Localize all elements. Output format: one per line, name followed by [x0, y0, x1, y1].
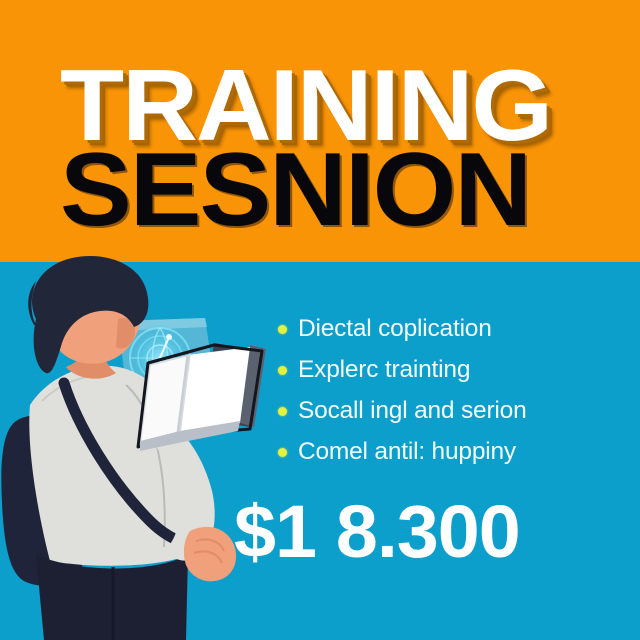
bullet-label: Comel antil: huppiny: [298, 438, 516, 466]
price-text: $1 8.300: [234, 495, 520, 569]
headline-line-sesnion: SESNION: [60, 138, 530, 242]
bullet-dot-icon: [278, 366, 287, 375]
hand-shape: [184, 527, 236, 581]
list-item: Diectal coplication: [278, 310, 608, 348]
bullet-label: Diectal coplication: [298, 315, 492, 343]
bullet-dot-icon: [278, 325, 287, 334]
man-reading-book-illustration: [0, 255, 280, 640]
feature-bullet-list: Diectal coplication Explerc trainting So…: [278, 310, 608, 474]
bullet-label: Explerc trainting: [298, 356, 470, 384]
list-item: Explerc trainting: [278, 351, 608, 389]
headline-block: TRAINING SESNION: [0, 0, 640, 262]
open-book-shape: [138, 343, 266, 451]
promo-poster: TRAINING SESNION: [0, 0, 640, 640]
bullet-dot-icon: [278, 407, 287, 416]
list-item: Socall ingl and serion: [278, 392, 608, 430]
bullet-label: Socall ingl and serion: [298, 397, 527, 425]
bullet-dot-icon: [278, 448, 287, 457]
list-item: Comel antil: huppiny: [278, 433, 608, 471]
